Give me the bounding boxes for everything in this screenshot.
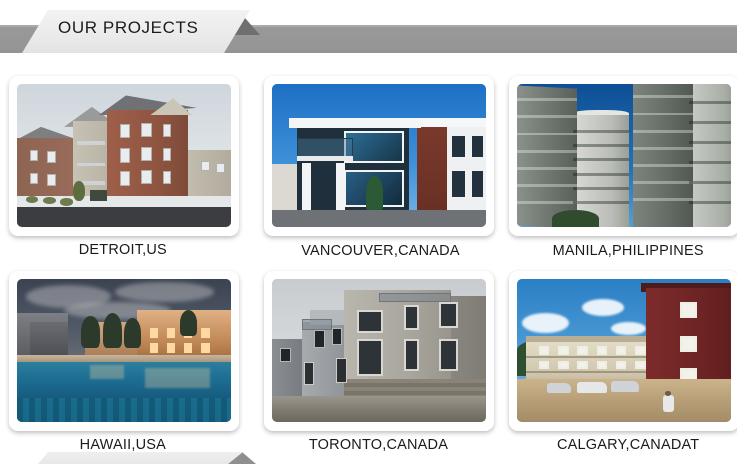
next-section-banner-sliver [38,452,243,464]
photo-frame[interactable] [509,271,737,431]
page-title: OUR PROJECTS [58,18,198,38]
photo-frame[interactable] [9,271,239,431]
calgary-red-cream-walkup-photo [517,279,731,422]
hawaii-resort-pool-photo [17,279,231,422]
toronto-grey-townhouses-photo [272,279,486,422]
project-label: TORONTO,CANADA [256,437,502,453]
project-card[interactable]: MANILA,PHILIPPINES [491,62,737,257]
projects-grid: DETROIT,US [0,62,737,452]
detroit-brick-apartment-photo [17,84,231,227]
project-card[interactable]: HAWAII,USA [0,257,246,452]
photo-frame[interactable] [264,76,494,236]
photo-frame[interactable] [9,76,239,236]
photo-frame[interactable] [264,271,494,431]
project-card[interactable]: CALGARY,CANADAT [491,257,737,452]
project-card[interactable]: TORONTO,CANADA [246,257,492,452]
project-label: HAWAII,USA [0,437,246,453]
photo-frame[interactable] [509,76,737,236]
project-card[interactable]: VANCOUVER,CANADA [246,62,492,257]
project-label: DETROIT,US [0,242,246,258]
projects-page: OUR PROJECTS [0,0,737,464]
manila-highrise-towers-photo [517,84,731,227]
section-header: OUR PROJECTS [0,0,737,53]
vancouver-modern-house-photo [272,84,486,227]
project-label: CALGARY,CANADAT [505,437,737,453]
project-card[interactable]: DETROIT,US [0,62,246,257]
